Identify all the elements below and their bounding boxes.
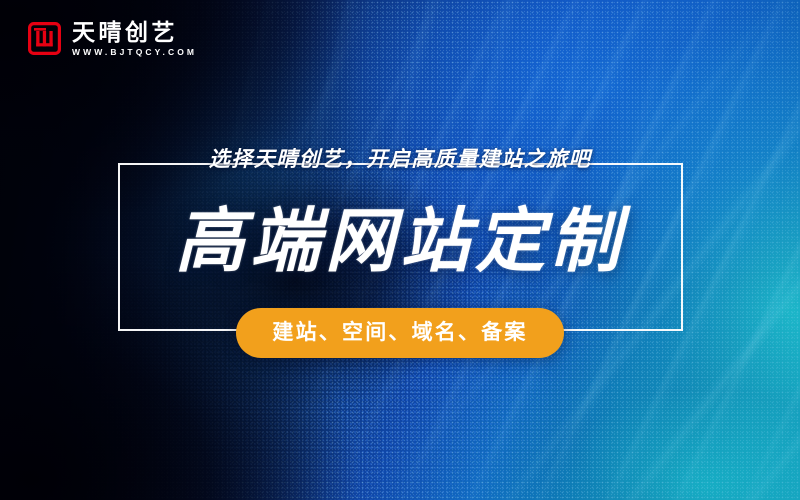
brand-logo[interactable]: 天晴创艺 WWW.BJTQCY.COM [28, 20, 197, 57]
hero-frame-border [118, 163, 683, 331]
promo-banner: 天晴创艺 WWW.BJTQCY.COM 选择天晴创艺，开启高质量建站之旅吧 高端… [0, 0, 800, 500]
logo-mark-icon [28, 22, 61, 55]
logo-company-name: 天晴创艺 [72, 20, 197, 44]
services-cta-button[interactable]: 建站、空间、域名、备案 [236, 308, 563, 358]
logo-text-block: 天晴创艺 WWW.BJTQCY.COM [72, 20, 197, 57]
logo-website-url: WWW.BJTQCY.COM [72, 48, 197, 57]
